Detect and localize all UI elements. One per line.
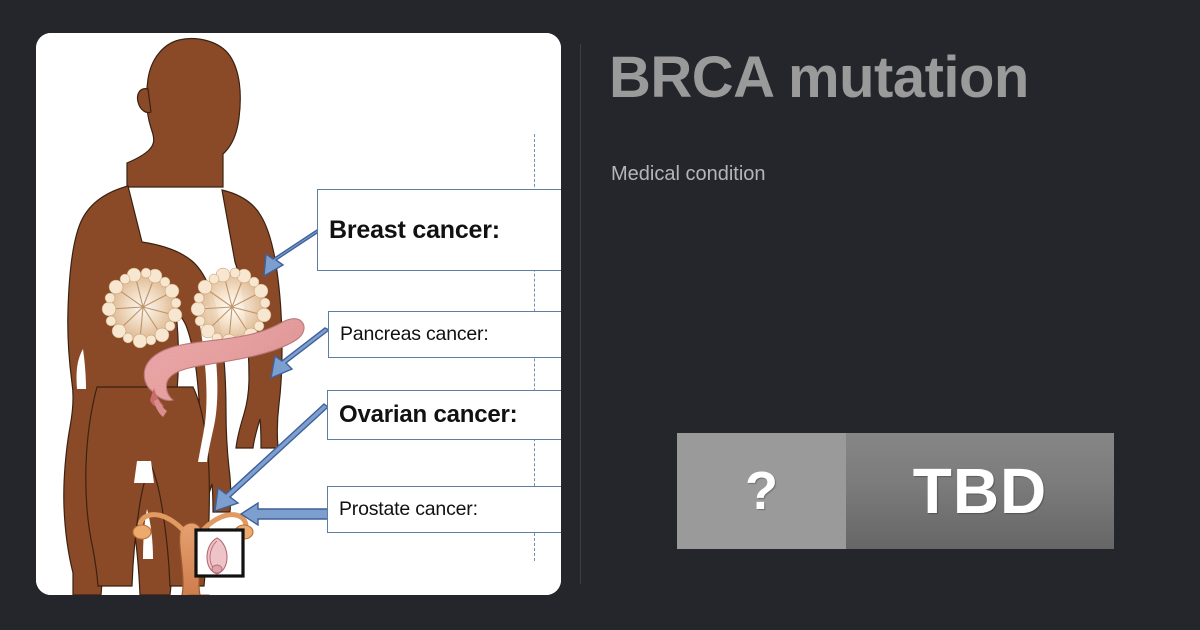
badge-question-section: ?	[677, 433, 846, 549]
callout-pancreas-cancer: Pancreas cancer:	[328, 311, 561, 358]
question-mark-icon: ?	[745, 464, 778, 518]
callout-ovarian-cancer: Ovarian cancer:	[327, 390, 561, 440]
callout-breast-cancer: Breast cancer:	[317, 189, 561, 271]
page-subtitle: Medical condition	[611, 163, 766, 186]
info-pane: BRCA mutation Medical condition ? TBD	[581, 0, 1200, 630]
callout-prostate-cancer: Prostate cancer:	[327, 486, 561, 533]
page-root: Breast cancer: Pancreas cancer: Ovarian …	[0, 0, 1200, 630]
page-title: BRCA mutation	[609, 45, 1029, 112]
tbd-badge[interactable]: ? TBD	[677, 433, 1114, 549]
media-pane: Breast cancer: Pancreas cancer: Ovarian …	[0, 0, 581, 630]
badge-label: TBD	[913, 459, 1048, 523]
badge-label-section: TBD	[846, 433, 1114, 549]
illustration-card[interactable]: Breast cancer: Pancreas cancer: Ovarian …	[36, 33, 561, 595]
